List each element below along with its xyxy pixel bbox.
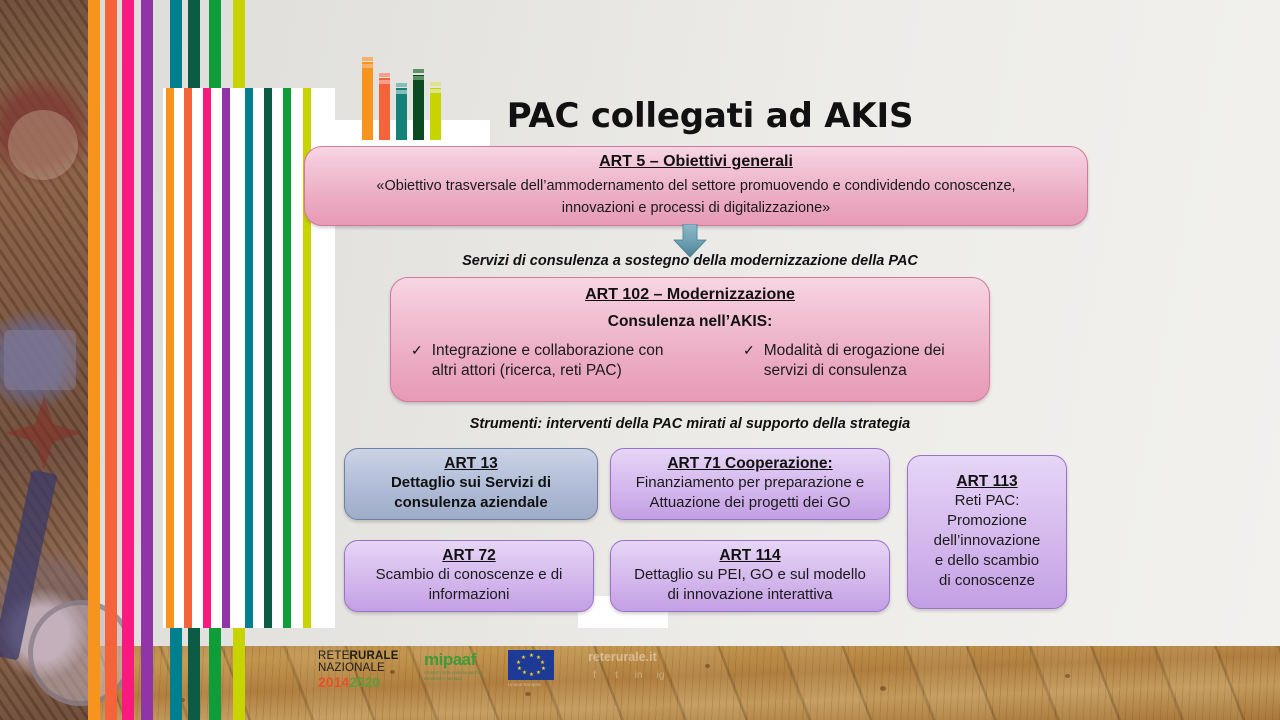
art71-line-2: Attuazione dei progetti dei GO (636, 493, 864, 513)
instagram-icon[interactable]: ig (654, 669, 667, 682)
art113-line-3: dell’innovazione (934, 531, 1041, 551)
art102-bullet-right-line-2: servizi di consulenza (764, 362, 907, 379)
art102-bullet-right: ✓ Modalità di erogazione dei servizi di … (743, 341, 963, 381)
art102-bullet-left-line-2: altri attori (ricerca, reti PAC) (432, 362, 622, 379)
check-icon: ✓ (411, 341, 423, 381)
twitter-icon[interactable]: t (610, 669, 623, 682)
art102-heading: ART 102 – Modernizzazione (585, 286, 795, 304)
eu-flag-icon: ★ ★ ★ ★ ★ ★ ★ ★ ★ ★ (508, 650, 554, 680)
box-art-72[interactable]: ART 72 Scambio di conoscenze e di inform… (344, 540, 594, 612)
art102-bullet-right-line-1: Modalità di erogazione dei (764, 342, 945, 359)
box-art-5[interactable]: ART 5 – Obiettivi generali «Obiettivo tr… (304, 146, 1088, 226)
slide-title: PAC collegati ad AKIS (430, 96, 990, 136)
art102-bullet-left-line-1: Integrazione e collaborazione con (432, 342, 664, 359)
decorative-photo (0, 0, 88, 720)
footer-logo-rete-rurale: RETERURALE NAZIONALE 20142020 (318, 650, 410, 716)
art102-subheading: Consulenza nell’AKIS: (608, 313, 773, 331)
footer-logo-mipaaf: mipaaf ministero delle politiche agricol… (424, 650, 494, 716)
check-icon: ✓ (743, 341, 755, 381)
footer-site-and-social: reterurale.it f t in ig (588, 650, 698, 716)
art5-heading: ART 5 – Obiettivi generali (599, 153, 793, 171)
art13-line-2: consulenza aziendale (391, 493, 551, 513)
art102-bullet-left: ✓ Integrazione e collaborazione con altr… (411, 341, 671, 381)
mipaaf-wordmark: mipaaf (424, 650, 494, 670)
art71-line-1: Finanziamento per preparazione e (636, 473, 864, 493)
box-art-114[interactable]: ART 114 Dettaglio su PEI, GO e sul model… (610, 540, 890, 612)
art72-heading: ART 72 (442, 547, 495, 565)
footer-site-url[interactable]: reterurale.it (588, 650, 698, 664)
art114-heading: ART 114 (719, 547, 780, 565)
footer-logo-eu: ★ ★ ★ ★ ★ ★ ★ ★ ★ ★ Unione Europea (508, 650, 558, 716)
art13-heading: ART 13 (444, 455, 497, 473)
caption-services: Servizi di consulenza a sostegno della m… (390, 253, 990, 269)
art72-line-1: Scambio di conoscenze e di (376, 565, 563, 585)
rete-rurale-bar-logo (362, 55, 432, 140)
art113-line-1: Reti PAC: (934, 491, 1041, 511)
rrn-year-start: 2014 (318, 674, 349, 690)
art113-line-2: Promozione (934, 511, 1041, 531)
eu-label: Unione Europea (508, 682, 558, 687)
art71-heading: ART 71 Cooperazione: (667, 455, 832, 473)
linkedin-icon[interactable]: in (632, 669, 645, 682)
mipaaf-subtitle: ministero delle politiche agricole alime… (424, 670, 490, 683)
rrn-year-end: 2020 (349, 674, 380, 690)
box-art-102[interactable]: ART 102 – Modernizzazione Consulenza nel… (390, 277, 990, 402)
art13-line-1: Dettaglio sui Servizi di (391, 473, 551, 493)
art113-heading: ART 113 (956, 473, 1017, 491)
box-art-13[interactable]: ART 13 Dettaglio sui Servizi di consulen… (344, 448, 598, 520)
art5-line-2: innovazioni e processi di digitalizzazio… (376, 198, 1015, 219)
rrn-text-rete: RETE (318, 650, 349, 662)
rrn-text-nazionale: NAZIONALE (318, 662, 410, 674)
facebook-icon[interactable]: f (588, 669, 601, 682)
caption-instruments: Strumenti: interventi della PAC mirati a… (390, 416, 990, 432)
box-art-113[interactable]: ART 113 Reti PAC: Promozione dell’innova… (907, 455, 1067, 609)
art113-line-4: e dello scambio (934, 551, 1041, 571)
art113-line-5: di conoscenze (934, 571, 1041, 591)
slide-canvas: PAC collegati ad AKIS ART 5 – Obiettivi … (0, 0, 1280, 720)
art72-line-2: informazioni (376, 585, 563, 605)
art5-line-1: «Obiettivo trasversale dell’ammodernamen… (376, 176, 1015, 197)
rrn-text-rurale: RURALE (349, 650, 398, 662)
art114-line-1: Dettaglio su PEI, GO e sul modello (634, 565, 866, 585)
art114-line-2: di innovazione interattiva (634, 585, 866, 605)
box-art-71[interactable]: ART 71 Cooperazione: Finanziamento per p… (610, 448, 890, 520)
